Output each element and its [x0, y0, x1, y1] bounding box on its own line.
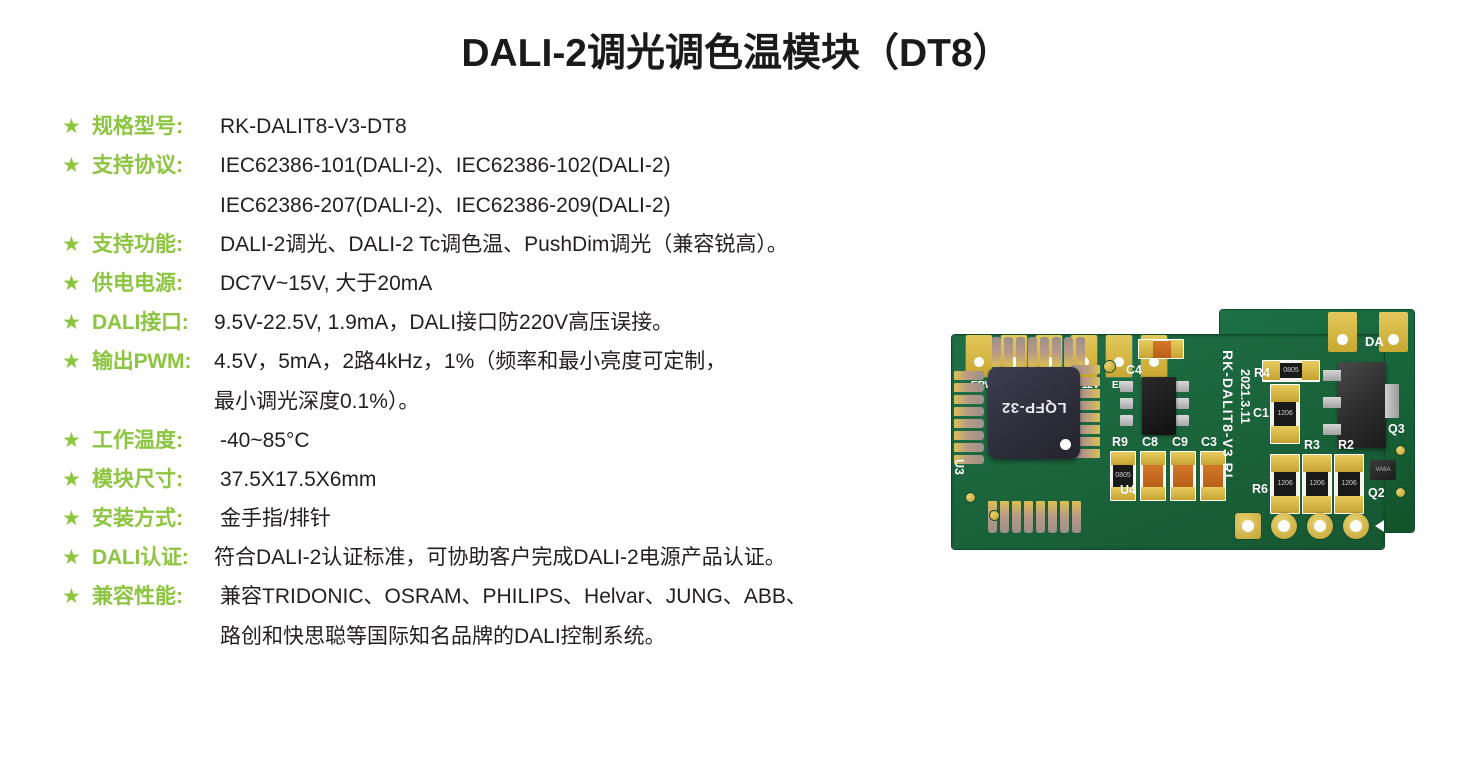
component-code-r6: 1206: [1274, 472, 1296, 496]
spec-row-dali-interface: ★ DALI接口: 9.5V-22.5V, 1.9mA，DALI接口防220V高…: [62, 308, 1022, 338]
silk-label-da: DA: [1365, 334, 1384, 349]
spec-label-model: 规格型号:: [92, 112, 220, 142]
star-icon: ★: [62, 112, 86, 141]
spec-label-protocol: 支持协议:: [92, 151, 220, 181]
spec-row-protocol: ★ 支持协议: IEC62386-101(DALI-2)、IEC62386-10…: [62, 151, 1022, 221]
spec-value-line: 金手指/排针: [220, 504, 1022, 534]
star-icon: ★: [62, 426, 86, 455]
pcb-module-image: DA RK-DALIT8-V3 RL R4 0805 C1 1206: [952, 306, 1452, 551]
via: [966, 493, 975, 502]
spec-value-line: RK-DALIT8-V3-DT8: [220, 112, 1022, 142]
spec-value-dimensions: 37.5X17.5X6mm: [220, 465, 1022, 495]
spec-value-model: RK-DALIT8-V3-DT8: [220, 112, 1022, 142]
spec-row-mounting: ★ 安装方式: 金手指/排针: [62, 504, 1022, 534]
chip-marking: LQFP-32: [988, 399, 1080, 416]
silk-label-q2: Q2: [1368, 486, 1385, 500]
star-icon: ★: [62, 151, 86, 180]
spec-label-power-supply: 供电电源:: [92, 269, 220, 299]
spec-value-pwm-output: 4.5V，5mA，2路4kHz，1%（频率和最小亮度可定制， 最小调光深度0.1…: [214, 347, 1022, 417]
component-code-c1: 1206: [1274, 402, 1296, 426]
silk-label-board-name: RK-DALIT8-V3 RL: [1220, 350, 1236, 483]
spec-row-function: ★ 支持功能: DALI-2调光、DALI-2 Tc调色温、PushDim调光（…: [62, 230, 1022, 260]
silk-label-c3: C3: [1201, 435, 1217, 449]
silk-label-r3: R3: [1304, 438, 1320, 452]
test-pad: [1235, 513, 1261, 539]
test-pad: [1307, 513, 1333, 539]
spec-value-power-supply: DC7V~15V, 大于20mA: [220, 269, 1022, 299]
u4-pads-left: [1120, 381, 1133, 426]
spec-value-line: 兼容TRIDONIC、OSRAM、PHILIPS、Helvar、JUNG、ABB…: [220, 582, 1022, 612]
spec-label-dali-interface: DALI接口:: [92, 308, 220, 338]
spec-value-function: DALI-2调光、DALI-2 Tc调色温、PushDim调光（兼容锐高）。: [220, 230, 1022, 260]
spec-row-pwm-output: ★ 输出PWM: 4.5V，5mA，2路4kHz，1%（频率和最小亮度可定制， …: [62, 347, 1022, 417]
spec-value-line: IEC62386-207(DALI-2)、IEC62386-209(DALI-2…: [220, 191, 1022, 221]
spec-value-temperature: -40~85°C: [220, 426, 1022, 456]
spec-value-line: -40~85°C: [220, 426, 1022, 456]
component-code-r3: 1206: [1306, 472, 1328, 496]
star-icon: ★: [62, 465, 86, 494]
u4-pads-right: [1176, 381, 1189, 426]
component-code-r2: 1206: [1338, 472, 1360, 496]
spec-value-line: IEC62386-101(DALI-2)、IEC62386-102(DALI-2…: [220, 151, 1022, 181]
silk-label-c1: C1: [1253, 406, 1269, 420]
spec-value-line: 路创和快思聪等国际知名品牌的DALI控制系统。: [220, 622, 1022, 652]
spec-value-line: 9.5V-22.5V, 1.9mA，DALI接口防220V高压误接。: [214, 308, 1022, 338]
silk-label-u3: U3: [952, 459, 966, 475]
spec-value-line: DALI-2调光、DALI-2 Tc调色温、PushDim调光（兼容锐高）。: [220, 230, 1022, 260]
silk-label-c4: C4: [1126, 363, 1142, 377]
triangle-marker-icon: [1375, 515, 1384, 537]
spec-value-protocol: IEC62386-101(DALI-2)、IEC62386-102(DALI-2…: [220, 151, 1022, 221]
silk-label-date: 2021.3.11: [1238, 369, 1252, 424]
component-code-r4: 0805: [1280, 363, 1302, 378]
qfp-pins-left: [954, 371, 984, 464]
silk-label-r4: R4: [1254, 366, 1270, 380]
spec-label-mounting: 安装方式:: [92, 504, 220, 534]
component-c4: [1138, 339, 1184, 359]
spec-row-dimensions: ★ 模块尺寸: 37.5X17.5X6mm: [62, 465, 1022, 495]
silk-label-r2: R2: [1338, 438, 1354, 452]
via: [1396, 446, 1405, 455]
via: [1104, 361, 1115, 372]
spec-row-temperature: ★ 工作温度: -40~85°C: [62, 426, 1022, 456]
spec-value-dali-interface: 9.5V-22.5V, 1.9mA，DALI接口防220V高压误接。: [214, 308, 1022, 338]
star-icon: ★: [62, 230, 86, 259]
spec-value-line: 最小调光深度0.1%）。: [214, 387, 1022, 417]
spec-row-model: ★ 规格型号: RK-DALIT8-V3-DT8: [62, 112, 1022, 142]
via: [990, 511, 999, 520]
component-c8: [1140, 451, 1166, 501]
specification-list: ★ 规格型号: RK-DALIT8-V3-DT8 ★ 支持协议: IEC6238…: [62, 112, 1022, 661]
spec-label-temperature: 工作温度:: [92, 426, 220, 456]
test-pad: [1343, 513, 1369, 539]
silk-label-u4: U4: [1120, 483, 1136, 497]
component-u3-lqfp32: LQFP-32: [988, 367, 1080, 459]
star-icon: ★: [62, 308, 86, 337]
qfp-pins-bottom: [988, 501, 1081, 533]
chip-pin1-dot: [1060, 439, 1071, 450]
component-r3: 1206: [1302, 454, 1332, 514]
silk-label-q3: Q3: [1388, 422, 1405, 436]
spec-value-mounting: 金手指/排针: [220, 504, 1022, 534]
spec-row-power-supply: ★ 供电电源: DC7V~15V, 大于20mA: [62, 269, 1022, 299]
star-icon: ★: [62, 269, 86, 298]
component-r6: 1206: [1270, 454, 1300, 514]
spec-value-line: 符合DALI-2认证标准，可协助客户完成DALI-2电源产品认证。: [214, 543, 1022, 573]
qfp-pins-top: [992, 337, 1085, 367]
spec-label-pwm-output: 输出PWM:: [92, 347, 220, 377]
component-q3: [1338, 362, 1386, 448]
component-c1: 1206: [1270, 384, 1300, 444]
silk-label-r9: R9: [1112, 435, 1128, 449]
star-icon: ★: [62, 582, 86, 611]
spec-value-line: DC7V~15V, 大于20mA: [220, 269, 1022, 299]
via: [1396, 488, 1405, 497]
spec-row-certification: ★ DALI认证: 符合DALI-2认证标准，可协助客户完成DALI-2电源产品…: [62, 543, 1022, 573]
spec-label-dimensions: 模块尺寸:: [92, 465, 220, 495]
component-q2: VA6A: [1370, 460, 1396, 480]
test-pad: [1271, 513, 1297, 539]
page-title: DALI-2调光调色温模块（DT8）: [0, 22, 1473, 78]
spec-label-certification: DALI认证:: [92, 543, 220, 573]
spec-value-line: 37.5X17.5X6mm: [220, 465, 1022, 495]
component-u4-soic: [1142, 377, 1176, 435]
star-icon: ★: [62, 543, 86, 572]
component-r2: 1206: [1334, 454, 1364, 514]
spec-value-line: 4.5V，5mA，2路4kHz，1%（频率和最小亮度可定制，: [214, 347, 1022, 377]
star-icon: ★: [62, 504, 86, 533]
spec-value-compatibility: 兼容TRIDONIC、OSRAM、PHILIPS、Helvar、JUNG、ABB…: [220, 582, 1022, 652]
component-r4: 0805: [1262, 360, 1320, 382]
spec-row-compatibility: ★ 兼容性能: 兼容TRIDONIC、OSRAM、PHILIPS、Helvar、…: [62, 582, 1022, 652]
spec-value-certification: 符合DALI-2认证标准，可协助客户完成DALI-2电源产品认证。: [214, 543, 1022, 573]
spec-label-compatibility: 兼容性能:: [92, 582, 220, 612]
bottom-test-pads: [1235, 513, 1384, 539]
silk-label-c8: C8: [1142, 435, 1158, 449]
spec-label-function: 支持功能:: [92, 230, 220, 260]
da-pad: [1328, 312, 1357, 352]
star-icon: ★: [62, 347, 86, 376]
silk-label-c9: C9: [1172, 435, 1188, 449]
component-c9: [1170, 451, 1196, 501]
silk-label-r6: R6: [1252, 482, 1268, 496]
